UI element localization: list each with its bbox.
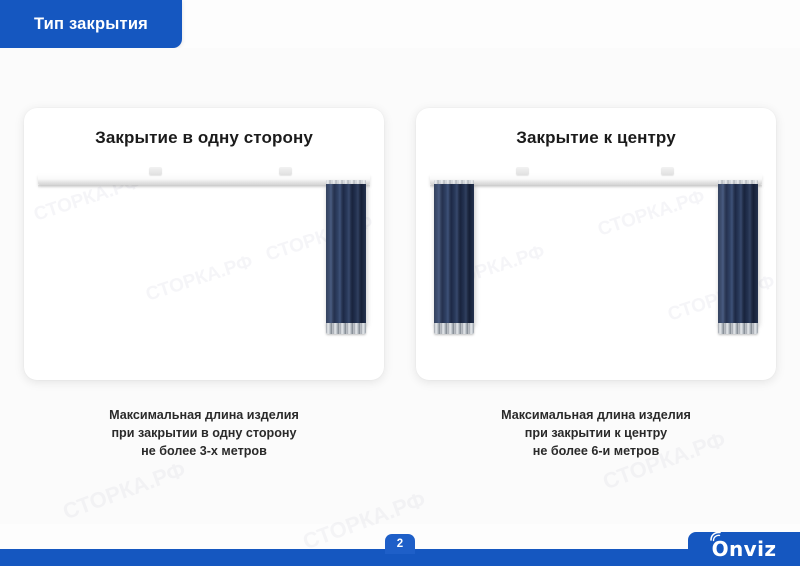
card-column-to-center: Закрытие к центру СТОРКА.РФ СТОРКА.РФ СТ… — [416, 108, 776, 461]
curtain-stack-left — [434, 184, 474, 334]
rail-bracket-icon — [661, 167, 674, 175]
curtain-stack-right — [718, 184, 758, 334]
caption-one-side: Максимальная длина изделия при закрытии … — [109, 407, 299, 461]
card-column-one-side: Закрытие в одну сторону СТОРКА.РФ СТОРКА… — [24, 108, 384, 461]
rail-bracket-icon — [516, 167, 529, 175]
card-title-to-center: Закрытие к центру — [416, 128, 776, 148]
caption-to-center: Максимальная длина изделия при закрытии … — [501, 407, 691, 461]
page-title: Тип закрытия — [34, 15, 148, 34]
header-banner: Тип закрытия — [0, 0, 182, 48]
rail-bracket-icon — [149, 167, 162, 175]
curtain-fabric — [326, 184, 366, 324]
logo-text: Onviz — [712, 539, 777, 559]
curtain-bottom-weights — [718, 323, 758, 334]
caption-line: Максимальная длина изделия — [501, 407, 691, 425]
curtain-stack-right — [326, 184, 366, 334]
curtain-fabric — [718, 184, 758, 324]
slide-content: СТОРКА.РФ СТОРКА.РФ СТОРКА.РФ СТОРКА.РФ … — [0, 48, 800, 524]
card-to-center[interactable]: Закрытие к центру СТОРКА.РФ СТОРКА.РФ СТ… — [416, 108, 776, 380]
curtain-bottom-weights — [326, 323, 366, 334]
signal-arc-icon — [710, 531, 724, 542]
caption-line: не более 6-и метров — [501, 443, 691, 461]
caption-line: не более 3-х метров — [109, 443, 299, 461]
brand-logo: Onviz — [688, 532, 800, 566]
curtain-bottom-weights — [434, 323, 474, 334]
background-watermark: СТОРКА.РФ — [59, 457, 189, 525]
caption-line: Максимальная длина изделия — [109, 407, 299, 425]
card-title-one-side: Закрытие в одну сторону — [24, 128, 384, 148]
card-one-side[interactable]: Закрытие в одну сторону СТОРКА.РФ СТОРКА… — [24, 108, 384, 380]
caption-line: при закрытии к центру — [501, 425, 691, 443]
slide: Тип закрытия СТОРКА.РФ СТОРКА.РФ СТОРКА.… — [0, 0, 800, 566]
curtain-fabric — [434, 184, 474, 324]
curtain-rail — [430, 174, 762, 185]
cards-row: Закрытие в одну сторону СТОРКА.РФ СТОРКА… — [24, 108, 776, 461]
illustration-one-side — [24, 164, 384, 380]
caption-line: при закрытии в одну сторону — [109, 425, 299, 443]
rail-bracket-icon — [279, 167, 292, 175]
illustration-to-center — [416, 164, 776, 380]
page-number-badge: 2 — [385, 534, 415, 554]
curtain-rail — [38, 174, 370, 185]
